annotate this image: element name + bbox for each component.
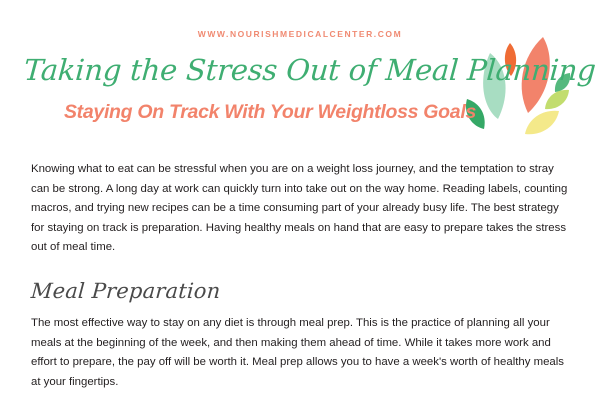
site-url-text: WWW.NOURISHMEDICALCENTER.COM	[0, 29, 600, 39]
leaf-lime-icon	[545, 90, 569, 109]
page-title: Taking the Stress Out of Meal Planning &	[23, 50, 506, 90]
section-heading-meal-preparation: Meal Preparation	[30, 276, 570, 306]
section-paragraph: The most effective way to stay on any di…	[31, 314, 569, 392]
article-body: Knowing what to eat can be stressful whe…	[31, 160, 569, 392]
article-page: WWW.NOURISHMEDICALCENTER.COM	[0, 0, 600, 400]
intro-paragraph: Knowing what to eat can be stressful whe…	[31, 160, 569, 258]
page-subtitle: Staying On Track With Your Weightloss Go…	[24, 99, 476, 125]
leaf-yellow-icon	[525, 111, 559, 135]
